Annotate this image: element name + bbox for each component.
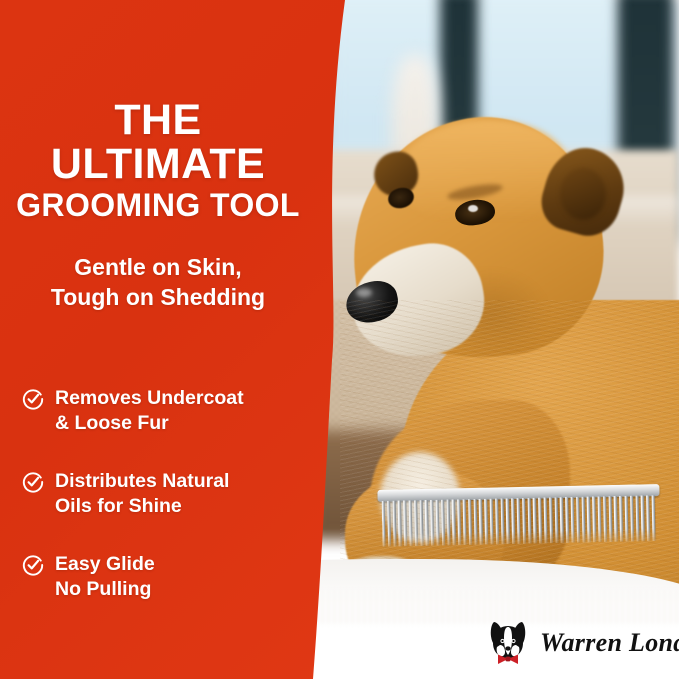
- grooming-comb: [377, 484, 660, 550]
- subheading-line-1: Gentle on Skin,: [0, 252, 316, 282]
- list-item: Distributes Natural Oils for Shine: [22, 469, 318, 518]
- brand-logo: Warren London ™: [482, 614, 672, 672]
- check-circle-icon: [22, 471, 44, 493]
- product-marketing-image: THE ULTIMATE GROOMING TOOL Gentle on Ski…: [0, 0, 679, 679]
- benefit-line-2: No Pulling: [55, 577, 155, 602]
- brand-name: Warren London: [540, 628, 679, 657]
- headline-line-3: GROOMING TOOL: [0, 189, 316, 222]
- comb-teeth: [382, 495, 657, 547]
- dog-nose-highlight: [356, 288, 372, 297]
- dog-eye-right-glint: [468, 205, 478, 212]
- brand-wordmark: Warren London ™: [540, 628, 679, 658]
- copy-content: THE ULTIMATE GROOMING TOOL Gentle on Ski…: [0, 0, 320, 679]
- benefit-line-1: Distributes Natural: [55, 469, 229, 494]
- benefit-line-2: & Loose Fur: [55, 411, 244, 436]
- check-circle-icon: [22, 554, 44, 576]
- dog-ear-right-inner: [560, 168, 606, 220]
- benefit-text: Easy Glide No Pulling: [55, 552, 155, 601]
- check-circle-icon: [22, 388, 44, 410]
- headline-line-1: THE: [0, 98, 316, 142]
- benefit-text: Distributes Natural Oils for Shine: [55, 469, 229, 518]
- list-item: Removes Undercoat & Loose Fur: [22, 386, 318, 435]
- page-title: THE ULTIMATE GROOMING TOOL: [0, 98, 316, 222]
- benefit-line-1: Removes Undercoat: [55, 386, 244, 411]
- headline-line-2: ULTIMATE: [0, 142, 316, 186]
- boston-terrier-head-icon: [482, 617, 534, 669]
- benefit-line-2: Oils for Shine: [55, 494, 229, 519]
- subheading-line-2: Tough on Shedding: [0, 282, 316, 312]
- benefit-text: Removes Undercoat & Loose Fur: [55, 386, 244, 435]
- list-item: Easy Glide No Pulling: [22, 552, 318, 601]
- subheading: Gentle on Skin, Tough on Shedding: [0, 252, 316, 313]
- benefit-line-1: Easy Glide: [55, 552, 155, 577]
- benefit-list: Removes Undercoat & Loose Fur Distribute…: [22, 386, 318, 635]
